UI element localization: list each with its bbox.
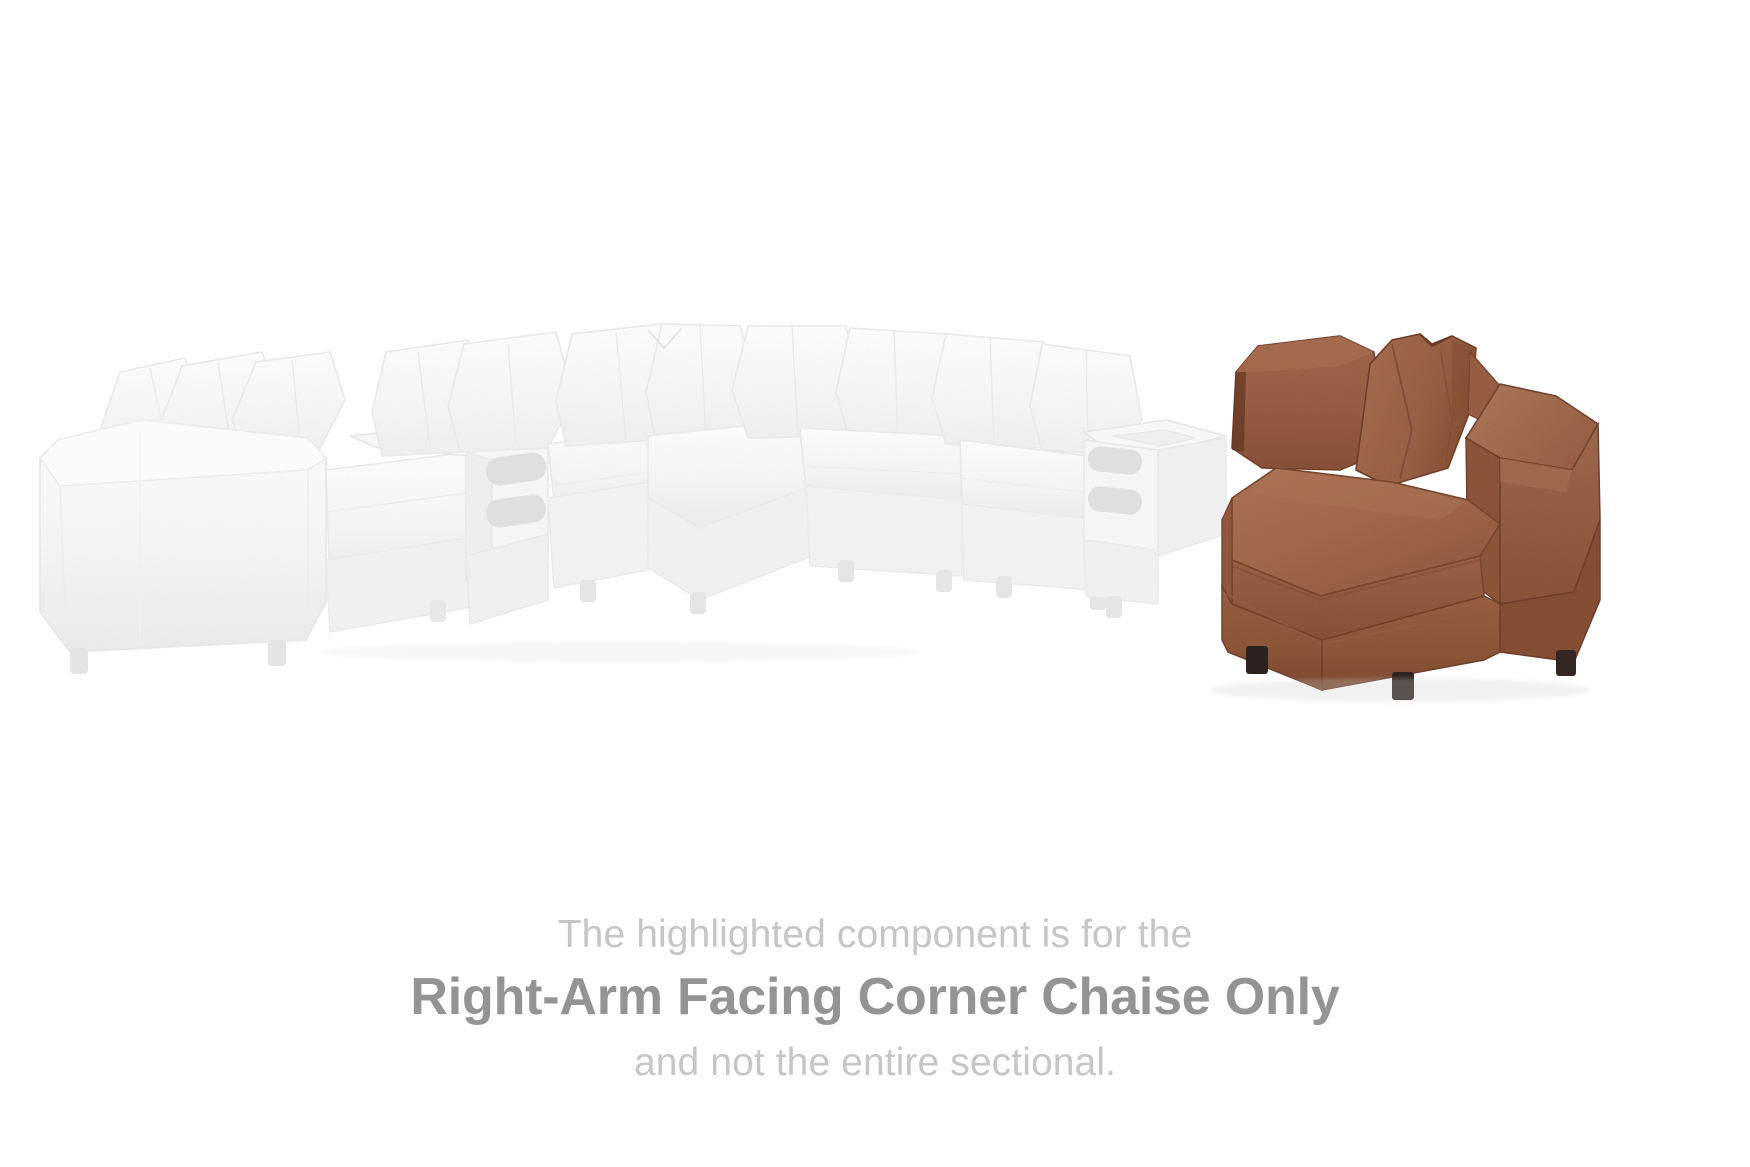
highlighted-right-arm-facing-corner-chaise: [1222, 334, 1600, 700]
ghost-leg: [690, 592, 706, 614]
ghost-leg: [430, 600, 446, 622]
caption-block: The highlighted component is for the Rig…: [0, 912, 1750, 1086]
product-illustration: [0, 0, 1750, 800]
ghost-leg: [838, 560, 854, 582]
product-callout-page: The highlighted component is for the Rig…: [0, 0, 1750, 1167]
caption-line-primary: The highlighted component is for the: [0, 912, 1750, 958]
caption-component-name: Right-Arm Facing Corner Chaise Only: [0, 964, 1750, 1032]
chaise-leg: [1556, 650, 1576, 676]
ghost-leg: [1106, 596, 1122, 618]
ghosted-sectional-group: [40, 324, 1226, 674]
sectional-diagram-svg: [0, 0, 1750, 800]
floor-shadow: [1210, 678, 1590, 702]
ghost-leg: [268, 640, 286, 666]
chaise-leg: [1246, 646, 1268, 674]
ghost-leg: [936, 570, 952, 592]
ghost-module-console-right: [1084, 420, 1226, 618]
ghost-leg: [70, 648, 88, 674]
ghost-leg: [996, 576, 1012, 598]
floor-shadow: [320, 642, 920, 662]
ghost-leg: [580, 580, 596, 602]
caption-line-disclaimer: and not the entire sectional.: [0, 1040, 1750, 1086]
